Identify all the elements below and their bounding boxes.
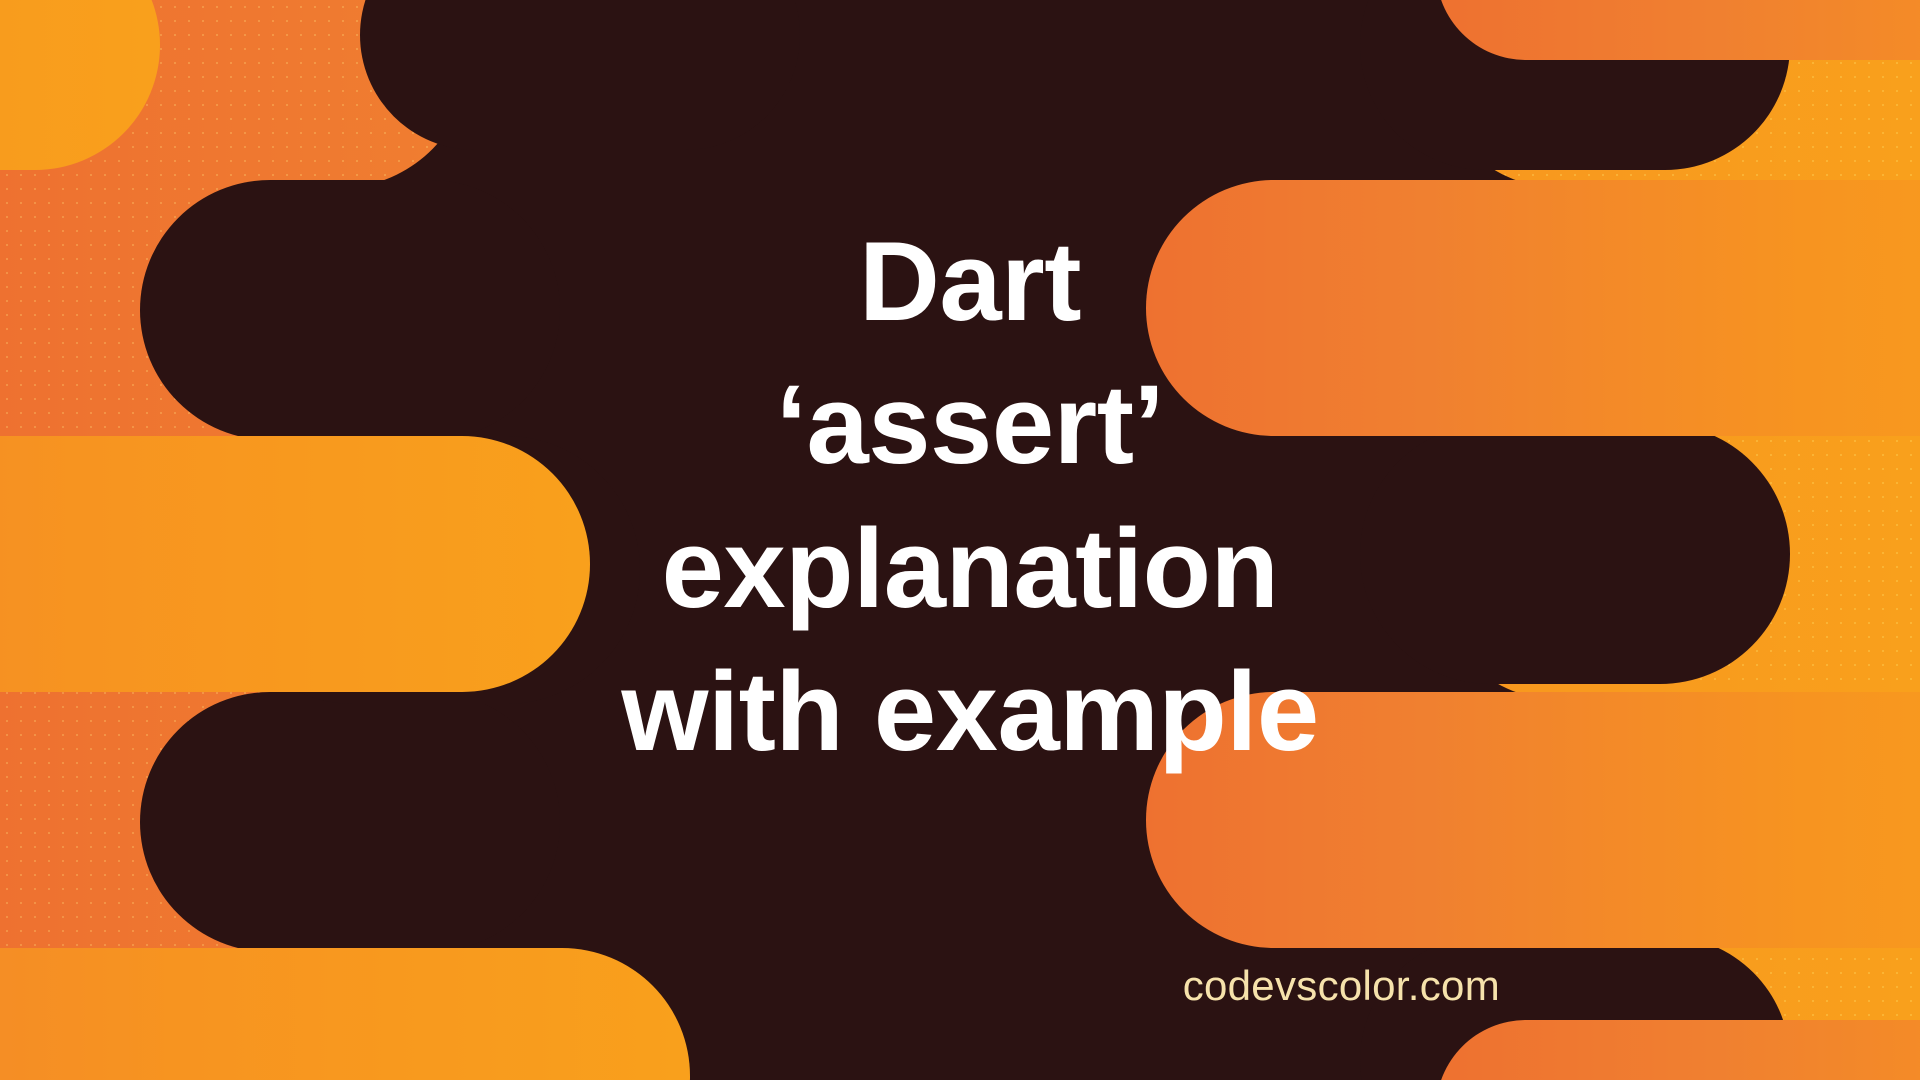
headline-line-3: explanation — [560, 497, 1380, 640]
banner-canvas: Dart ‘assert’ explanation with example c… — [0, 0, 1920, 1080]
site-watermark: codevscolor.com — [0, 962, 1500, 1010]
headline-line-1: Dart — [560, 210, 1380, 353]
headline-line-2: ‘assert’ — [560, 353, 1380, 496]
banner-headline: Dart ‘assert’ explanation with example — [560, 210, 1380, 783]
headline-line-4: with example — [560, 640, 1380, 783]
